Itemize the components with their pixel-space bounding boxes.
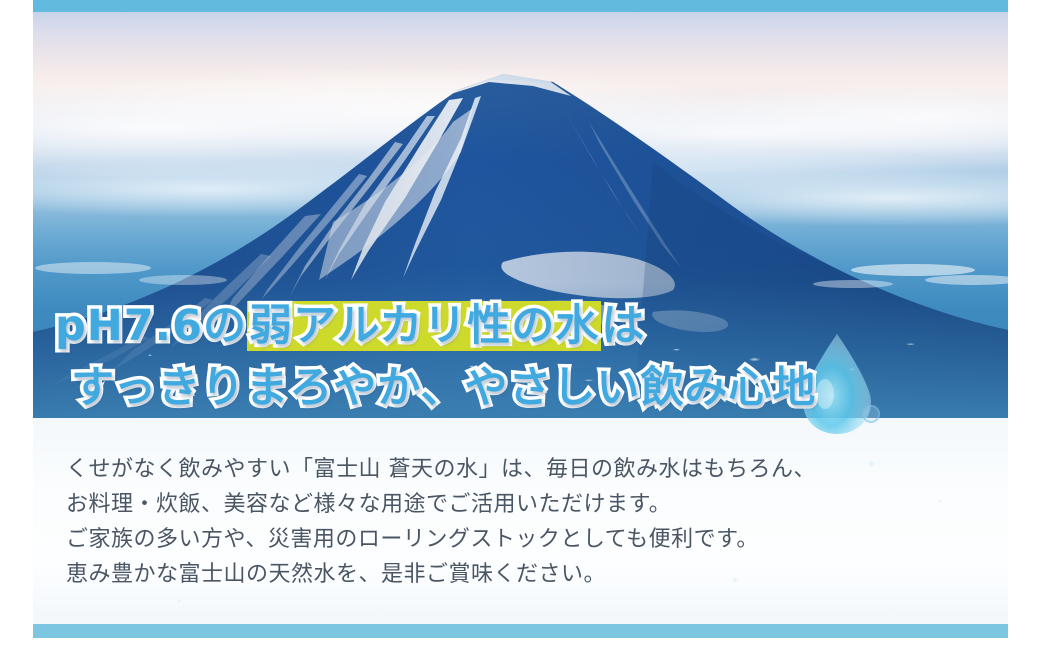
body-copy: くせがなく飲みやすい「富士山 蒼天の水」は、毎日の飲み水はもちろん、 お料理・炊… xyxy=(66,452,996,592)
body-line: お料理・炊飯、美容など様々な用途でご活用いただけます。 xyxy=(66,487,996,522)
promotional-banner: pH7.6の弱アルカリ性の水は すっきりまろやか、やさしい飲み心地 くせがなく飲… xyxy=(0,0,1040,646)
body-line: くせがなく飲みやすい「富士山 蒼天の水」は、毎日の飲み水はもちろん、 xyxy=(66,452,996,487)
top-accent-bar xyxy=(33,0,1008,12)
body-line: ご家族の多い方や、災害用のローリングストックとしても便利です。 xyxy=(66,522,996,557)
water-bubble-icon xyxy=(862,405,880,423)
bottom-accent-bar xyxy=(33,624,1008,638)
body-line: 恵み豊かな富士山の天然水を、是非ご賞味ください。 xyxy=(66,557,996,592)
